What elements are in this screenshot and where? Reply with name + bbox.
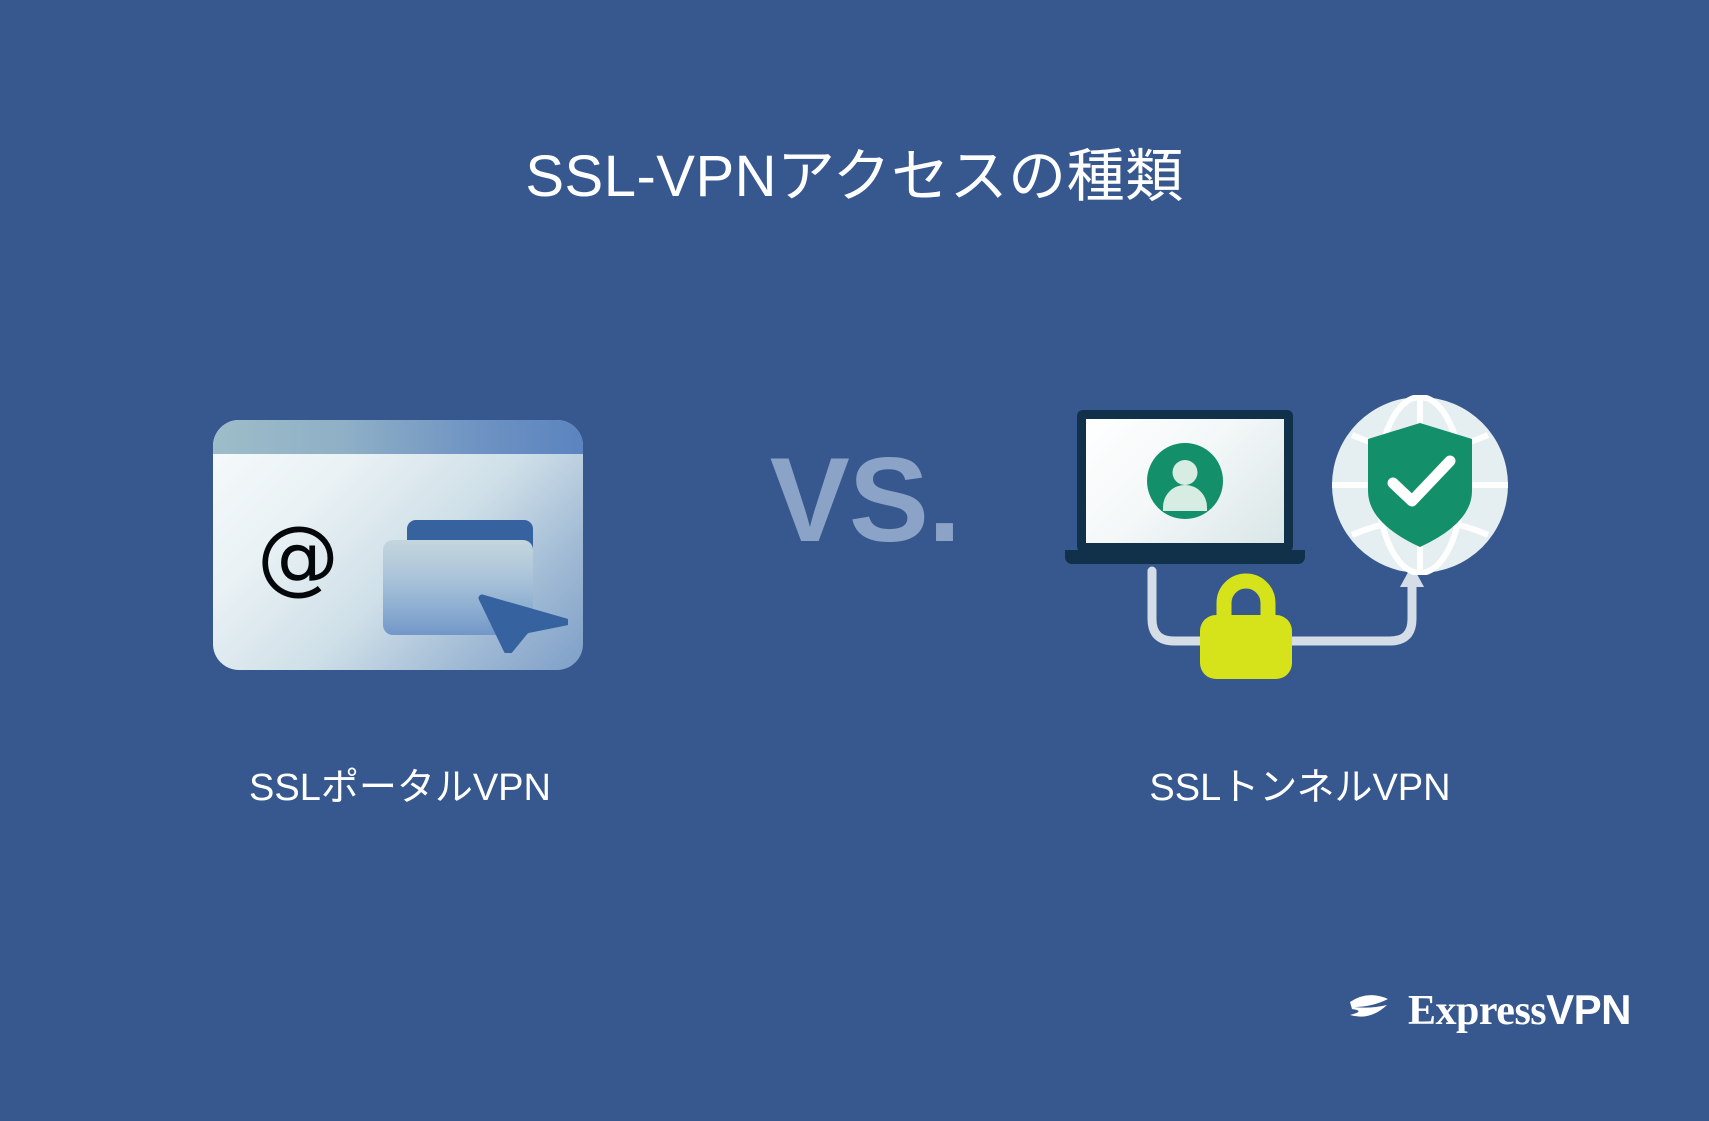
laptop-screen <box>1086 419 1284 543</box>
laptop-base <box>1065 550 1305 564</box>
cursor-arrow-icon <box>478 568 568 653</box>
brand-name: ExpressVPN <box>1408 986 1631 1035</box>
infographic-canvas: SSL-VPNアクセスの種類 @ VS. <box>0 0 1709 1121</box>
card-header-bar <box>213 420 583 454</box>
brand-name-express: Express <box>1408 988 1546 1034</box>
avatar-head <box>1173 460 1198 485</box>
avatar-body <box>1163 485 1207 511</box>
expressvpn-logo: ExpressVPN <box>1344 985 1631 1035</box>
ssl-portal-vpn-illustration: @ <box>213 420 583 670</box>
user-avatar-icon <box>1147 443 1223 519</box>
globe-icon <box>1330 395 1510 575</box>
padlock-icon <box>1196 573 1296 681</box>
page-title: SSL-VPNアクセスの種類 <box>0 145 1709 209</box>
versus-label: VS. <box>745 440 985 560</box>
ssl-tunnel-vpn-illustration <box>1040 395 1560 705</box>
laptop-lid <box>1077 410 1293 552</box>
at-symbol-icon: @ <box>257 516 339 598</box>
laptop-icon <box>1065 410 1305 575</box>
caption-ssl-tunnel-vpn: SSLトンネルVPN <box>930 756 1670 811</box>
brand-name-vpn: VPN <box>1546 986 1631 1033</box>
caption-ssl-portal-vpn: SSLポータルVPN <box>0 756 800 811</box>
expressvpn-logo-icon <box>1344 985 1394 1035</box>
